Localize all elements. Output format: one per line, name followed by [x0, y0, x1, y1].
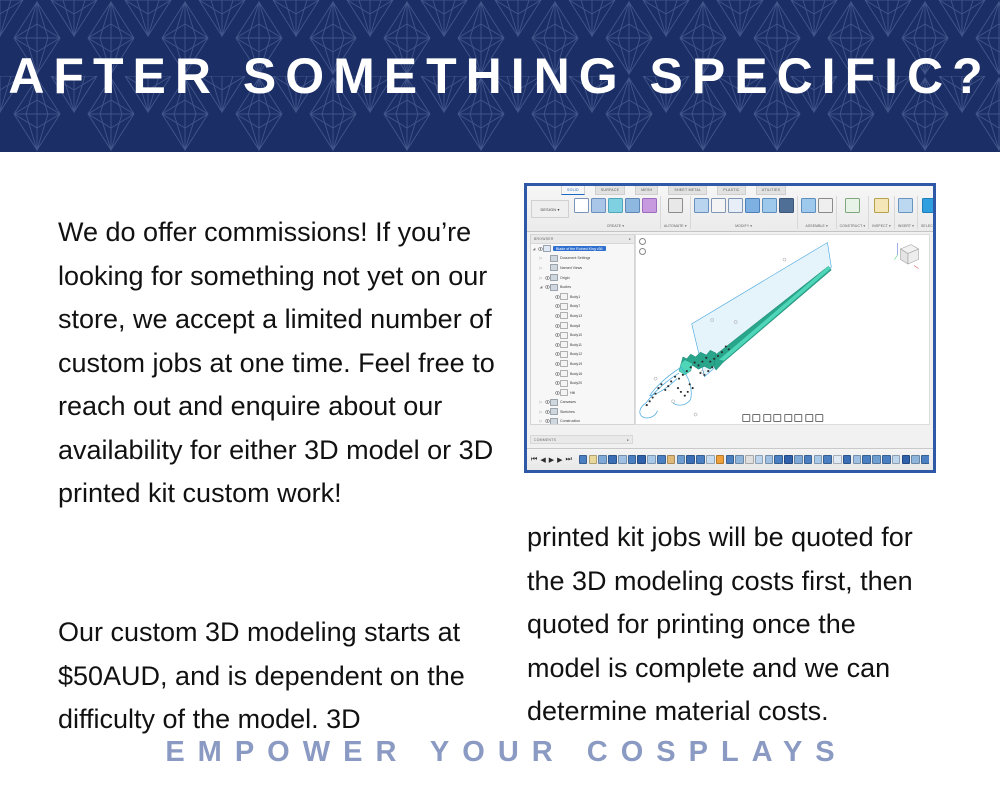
timeline-feature-9[interactable]: [657, 455, 666, 464]
fusion-ribbon: SOLIDSURFACEMESHSHEET METALPLASTICUTILIT…: [527, 186, 933, 232]
viewport-navigation-bar[interactable]: [742, 414, 824, 422]
ribbon-panel-select: SELECT ▾: [918, 196, 936, 229]
timeline-feature-21[interactable]: [774, 455, 783, 464]
browser-node-sketches[interactable]: ▷Sketches: [531, 407, 634, 417]
ribbon-panel-label[interactable]: CREATE ▾: [607, 224, 624, 229]
browser-node-named-views[interactable]: ▷Named Views: [531, 263, 634, 273]
offset-plane-icon[interactable]: [845, 198, 860, 213]
new-component-icon[interactable]: [801, 198, 816, 213]
left-paragraph-2: Our custom 3D modeling starts at $50AUD,…: [58, 611, 498, 742]
body-icon: [560, 380, 568, 387]
comments-panel-menu-icon[interactable]: ●: [627, 438, 629, 442]
browser-tree: ◢Blade of the Ruined King v36▷Document S…: [531, 244, 634, 425]
zoom-icon[interactable]: [763, 414, 771, 422]
timeline-feature-7[interactable]: [637, 455, 646, 464]
step-back-button[interactable]: ◀: [540, 456, 545, 464]
browser-node-label: Canvases: [560, 400, 576, 404]
timeline-bar[interactable]: ⏮◀▶▶⏭: [527, 448, 933, 470]
timeline-feature-20[interactable]: [765, 455, 774, 464]
display-settings-icon[interactable]: [639, 248, 646, 255]
ribbon-panel-create: CREATE ▾: [571, 196, 661, 229]
timeline-feature-23[interactable]: [794, 455, 803, 464]
timeline-feature-28[interactable]: [843, 455, 852, 464]
ribbon-panel-construct: CONSTRUCT ▾: [837, 196, 870, 229]
browser-panel-menu-icon[interactable]: ●: [629, 237, 631, 241]
ribbon-panel-icons: [922, 196, 936, 213]
ribbon-panel-icons: [801, 196, 833, 213]
ribbon-panel-assemble: ASSEMBLE ▾: [798, 196, 837, 229]
ribbon-panel-label[interactable]: CONSTRUCT ▾: [840, 224, 866, 229]
timeline-feature-17[interactable]: [735, 455, 744, 464]
ribbon-panel-icons: [668, 196, 683, 213]
timeline-feature-34[interactable]: [902, 455, 911, 464]
shell-icon[interactable]: [745, 198, 760, 213]
timeline-features[interactable]: [579, 455, 929, 464]
timeline-feature-33[interactable]: [892, 455, 901, 464]
extrude-icon[interactable]: [591, 198, 606, 213]
ribbon-tab-mesh[interactable]: MESH: [635, 186, 658, 195]
timeline-feature-1[interactable]: [579, 455, 588, 464]
browser-node-canvases[interactable]: ▷Canvases: [531, 398, 634, 408]
chevron-right-icon[interactable]: ▷: [538, 256, 544, 260]
loft-icon[interactable]: [642, 198, 657, 213]
browser-node-label: Body12: [570, 352, 582, 356]
ribbon-panel-icons: [574, 196, 657, 213]
browser-node-label: Body8: [570, 324, 580, 328]
timeline-feature-25[interactable]: [814, 455, 823, 464]
select-cursor-icon[interactable]: [922, 198, 936, 213]
folder-icon: [550, 399, 558, 406]
timeline-feature-4[interactable]: [608, 455, 617, 464]
viewport-layout-icon[interactable]: [805, 414, 813, 422]
ribbon-panel-label[interactable]: AUTOMATE ▾: [664, 224, 687, 229]
timeline-feature-6[interactable]: [628, 455, 637, 464]
sweep-icon[interactable]: [625, 198, 640, 213]
folder-icon: [550, 418, 558, 425]
body-icon: [560, 293, 568, 300]
workspace-selector[interactable]: DESIGN ▾: [531, 200, 569, 218]
timeline-feature-32[interactable]: [882, 455, 891, 464]
fusion-ribbon-tabs: SOLIDSURFACEMESHSHEET METALPLASTICUTILIT…: [561, 186, 786, 195]
fillet-icon[interactable]: [711, 198, 726, 213]
comments-panel-label: COMMENTS: [534, 438, 556, 442]
body-icon: [560, 332, 568, 339]
fusion-ribbon-panels: CREATE ▾AUTOMATE ▾MODIFY ▾ASSEMBLE ▾CONS…: [571, 196, 931, 230]
timeline-feature-24[interactable]: [804, 455, 813, 464]
timeline-feature-19[interactable]: [755, 455, 764, 464]
browser-node-label: Body7: [570, 304, 580, 308]
ribbon-panel-icons: [874, 196, 889, 213]
skip-to-end-button[interactable]: ⏭: [565, 456, 571, 464]
browser-node-hilt[interactable]: Hilt: [531, 388, 634, 398]
browser-node-label: Hilt: [570, 391, 575, 395]
ribbon-panel-label[interactable]: ASSEMBLE ▾: [805, 224, 827, 229]
timeline-feature-11[interactable]: [677, 455, 686, 464]
timeline-feature-26[interactable]: [823, 455, 832, 464]
timeline-feature-30[interactable]: [862, 455, 871, 464]
browser-node-label: Body16: [570, 372, 582, 376]
fit-icon[interactable]: [773, 414, 781, 422]
ribbon-panel-automate: AUTOMATE ▾: [661, 196, 691, 229]
settings-icon: [550, 255, 558, 262]
ribbon-panel-icons: [694, 196, 794, 213]
body-icon: [560, 322, 568, 329]
timeline-feature-13[interactable]: [696, 455, 705, 464]
play-button[interactable]: ▶: [549, 456, 554, 464]
grid-icon[interactable]: [794, 414, 802, 422]
body-icon: [560, 370, 568, 377]
browser-node-body20[interactable]: Body20: [531, 378, 634, 388]
ribbon-panel-modify: MODIFY ▾: [691, 196, 798, 229]
browser-node-body12[interactable]: Body12: [531, 350, 634, 360]
folder-icon: [550, 274, 558, 281]
ribbon-tab-plastic[interactable]: PLASTIC: [717, 186, 745, 195]
orbit-icon[interactable]: [742, 414, 750, 422]
chamfer-icon[interactable]: [728, 198, 743, 213]
timeline-feature-18[interactable]: [745, 455, 754, 464]
timeline-feature-15[interactable]: [716, 455, 725, 464]
ribbon-panel-icons: [845, 196, 860, 213]
timeline-feature-2[interactable]: [589, 455, 598, 464]
timeline-feature-5[interactable]: [618, 455, 627, 464]
browser-node-label: Body20: [570, 381, 582, 385]
browser-node-label: Bodies: [560, 285, 571, 289]
ribbon-tab-solid[interactable]: SOLID: [561, 186, 585, 195]
browser-node-label: Sketches: [560, 410, 575, 414]
chevron-right-icon[interactable]: ▷: [538, 266, 544, 270]
browser-node-body13[interactable]: Body13: [531, 311, 634, 321]
browser-node-label: Named Views: [560, 266, 582, 270]
browser-node-label: Origin: [560, 276, 570, 280]
timeline-playback-controls[interactable]: ⏮◀▶▶⏭: [531, 456, 576, 464]
browser-node-label: Body1: [570, 295, 580, 299]
browser-node-body11[interactable]: Body11: [531, 340, 634, 350]
ribbon-panel-inspect: INSPECT ▾: [869, 196, 895, 229]
view-cube[interactable]: [893, 240, 923, 270]
browser-node-blade-of-the-ruined-king-v36[interactable]: ◢Blade of the Ruined King v36: [531, 244, 634, 254]
skip-to-start-button[interactable]: ⏮: [531, 456, 537, 464]
timeline-feature-35[interactable]: [911, 455, 920, 464]
ribbon-panel-label[interactable]: INSPECT ▾: [872, 224, 891, 229]
folder-icon: [550, 264, 558, 271]
draft-icon[interactable]: [762, 198, 777, 213]
viewport-3d[interactable]: [635, 234, 930, 425]
browser-node-body1[interactable]: Body1: [531, 292, 634, 302]
ribbon-panel-label[interactable]: INSERT ▾: [898, 224, 914, 229]
measure-icon[interactable]: [874, 198, 889, 213]
root-icon: [543, 245, 551, 252]
automate-icon[interactable]: [668, 198, 683, 213]
timeline-feature-29[interactable]: [853, 455, 862, 464]
header-banner: AFTER SOMETHING SPECIFIC?: [0, 0, 1000, 152]
browser-panel-header: BROWSER ●: [531, 235, 634, 244]
browser-node-body16[interactable]: Body16: [531, 369, 634, 379]
browser-node-label: Body10: [570, 333, 582, 337]
browser-node-label: Body19: [570, 362, 582, 366]
body-icon: [560, 351, 568, 358]
browser-node-construction[interactable]: ▷Construction: [531, 417, 634, 425]
timeline-feature-12[interactable]: [686, 455, 695, 464]
body-icon: [560, 312, 568, 319]
folder-icon: [550, 284, 558, 291]
timeline-feature-31[interactable]: [872, 455, 881, 464]
effects-icon[interactable]: [815, 414, 823, 422]
step-forward-button[interactable]: ▶: [557, 456, 562, 464]
browser-node-label: Document Settings: [560, 256, 590, 260]
new-sketch-icon[interactable]: [574, 198, 589, 213]
timeline-feature-10[interactable]: [667, 455, 676, 464]
browser-node-origin[interactable]: ▷Origin: [531, 273, 634, 283]
browser-node-document-settings[interactable]: ▷Document Settings: [531, 254, 634, 264]
left-paragraph-1: We do offer commissions! If you’re looki…: [58, 211, 498, 516]
browser-panel: BROWSER ● ◢Blade of the Ruined King v36▷…: [530, 234, 635, 425]
insert-mcmaster-icon[interactable]: [898, 198, 913, 213]
ribbon-panel-insert: INSERT ▾: [895, 196, 918, 229]
comments-panel[interactable]: COMMENTS ●: [530, 435, 633, 444]
browser-panel-title: BROWSER: [534, 237, 554, 241]
browser-node-label: Body13: [570, 314, 582, 318]
pan-icon[interactable]: [752, 414, 760, 422]
timeline-feature-16[interactable]: [726, 455, 735, 464]
timeline-feature-36[interactable]: [921, 455, 929, 464]
ribbon-tab-sheet-metal[interactable]: SHEET METAL: [668, 186, 707, 195]
timeline-feature-14[interactable]: [706, 455, 715, 464]
folder-icon: [550, 408, 558, 415]
grid-snap-icon[interactable]: [639, 238, 646, 245]
browser-node-body19[interactable]: Body19: [531, 359, 634, 369]
browser-node-body7[interactable]: Body7: [531, 302, 634, 312]
footer-tagline: EMPOWER YOUR COSPLAYS: [0, 736, 1000, 769]
timeline-feature-22[interactable]: [784, 455, 793, 464]
browser-node-body10[interactable]: Body10: [531, 330, 634, 340]
joint-icon[interactable]: [818, 198, 833, 213]
timeline-feature-3[interactable]: [598, 455, 607, 464]
body-icon: [560, 360, 568, 367]
ribbon-panel-icons: [898, 196, 913, 213]
timeline-feature-27[interactable]: [833, 455, 842, 464]
right-paragraph-1: printed kit jobs will be quoted for the …: [527, 516, 927, 734]
browser-node-label: Body11: [570, 343, 582, 347]
ribbon-panel-label[interactable]: SELECT ▾: [921, 224, 936, 229]
timeline-feature-8[interactable]: [647, 455, 656, 464]
browser-node-body8[interactable]: Body8: [531, 321, 634, 331]
viewport-corner-controls: [639, 238, 646, 255]
browser-node-bodies[interactable]: ◢Bodies: [531, 282, 634, 292]
revolve-icon[interactable]: [608, 198, 623, 213]
browser-node-label: Blade of the Ruined King v36: [553, 246, 606, 251]
ribbon-panel-label[interactable]: MODIFY ▾: [735, 224, 752, 229]
ribbon-tab-surface[interactable]: SURFACE: [595, 186, 625, 195]
move-copy-icon[interactable]: [779, 198, 794, 213]
ribbon-tab-utilities[interactable]: UTILITIES: [756, 186, 787, 195]
sword-model-render: [636, 235, 929, 424]
body-icon: [560, 389, 568, 396]
browser-node-label: Construction: [560, 419, 580, 423]
press-pull-icon[interactable]: [694, 198, 709, 213]
page-title: AFTER SOMETHING SPECIFIC?: [0, 0, 1000, 152]
fusion360-screenshot-image: SOLIDSURFACEMESHSHEET METALPLASTICUTILIT…: [524, 183, 936, 473]
body-icon: [560, 341, 568, 348]
body-icon: [560, 303, 568, 310]
display-mode-icon[interactable]: [784, 414, 792, 422]
